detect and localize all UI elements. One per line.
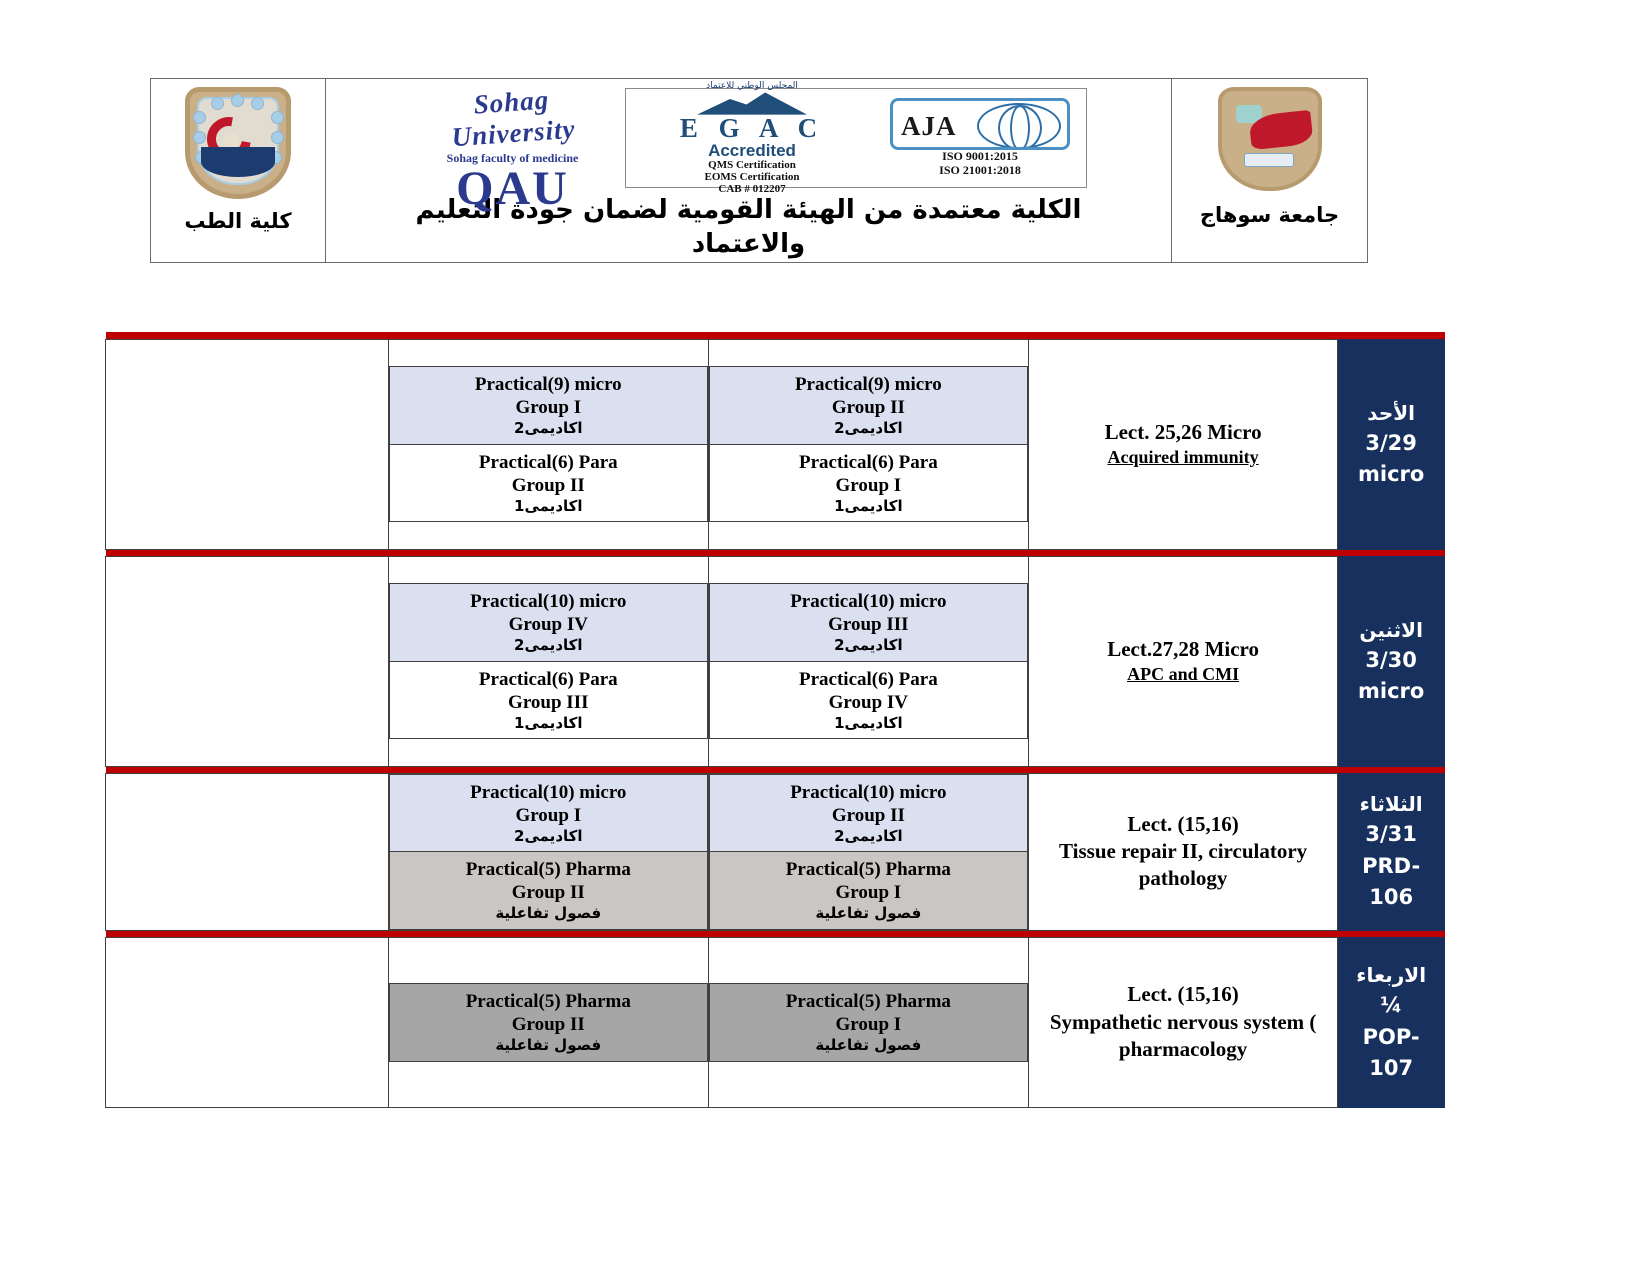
practical-title: Practical(6) Para	[394, 668, 703, 691]
practical-cell[interactable]: Practical(10) micro Group I اكاديمى2	[389, 774, 707, 852]
practical-sub-row: Practical(5) Pharma Group II فصول تفاعلي…	[389, 983, 707, 1061]
lecture-title: Lect. (15,16)	[1035, 981, 1331, 1008]
practical-cell[interactable]: Practical(5) Pharma Group I فصول تفاعلية	[709, 852, 1027, 930]
aja-iso21001-label: ISO 21001:2018	[880, 164, 1080, 178]
practical-cell[interactable]: Practical(10) micro Group IV اكاديمى2	[389, 583, 707, 661]
empty-time-cell[interactable]	[106, 937, 389, 1107]
practical-title: Practical(10) micro	[394, 781, 703, 804]
practical-room: اكاديمى1	[394, 497, 703, 515]
sohag-university-qau-logo-icon: Sohag University Sohag faculty of medici…	[410, 85, 615, 190]
practical-sub-row: Practical(6) Para Group II اكاديمى1	[389, 444, 707, 522]
red-divider-segment	[388, 332, 708, 339]
practical-room: اكاديمى2	[394, 419, 703, 437]
practical-room: اكاديمى2	[394, 636, 703, 654]
red-divider-segment	[708, 332, 1028, 339]
egac-eoms-label: EOMS Certification	[632, 171, 872, 183]
practical-room: اكاديمى1	[394, 714, 703, 732]
practical-sub-row: Practical(6) Para Group III اكاديمى1	[389, 661, 707, 739]
practical-group: Group I	[714, 1013, 1023, 1036]
lecture-block: Lect. (15,16) Tissue repair II, circulat…	[1035, 811, 1331, 893]
practical-room: فصول تفاعلية	[714, 904, 1023, 922]
practical-block: Practical(9) micro Group I اكاديمى2	[394, 373, 703, 438]
lecture-cell[interactable]: Lect. 25,26 Micro Acquired immunity	[1028, 339, 1337, 549]
lecture-subtitle: Acquired immunity	[1035, 446, 1331, 469]
practical-title: Practical(10) micro	[714, 781, 1023, 804]
lecture-subtitle: APC and CMI	[1035, 663, 1331, 686]
red-divider-row	[106, 766, 1445, 773]
accreditation-line-2: والاعتماد	[349, 228, 1149, 262]
day-cell[interactable]: الأحد 3/29 micro	[1338, 339, 1445, 549]
practical-cell[interactable]: Practical(5) Pharma Group II فصول تفاعلي…	[389, 852, 707, 930]
practical-cell[interactable]: Practical(10) micro Group III اكاديمى2	[709, 583, 1027, 661]
red-divider-segment	[1028, 549, 1337, 556]
practical-cell[interactable]: Practical(5) Pharma Group I فصول تفاعلية	[709, 983, 1027, 1061]
practical-room: فصول تفاعلية	[714, 1036, 1023, 1054]
lecture-block: Lect. (15,16) Sympathetic nervous system…	[1035, 981, 1331, 1063]
red-divider-segment	[106, 332, 389, 339]
practical-cell[interactable]: Practical(5) Pharma Group II فصول تفاعلي…	[389, 983, 707, 1061]
red-divider-segment	[1028, 332, 1337, 339]
practical-column-a: Practical(10) micro Group IV اكاديمى2 Pr…	[388, 556, 708, 766]
red-divider-segment	[1338, 766, 1445, 773]
header-logos-row: Sohag University Sohag faculty of medici…	[326, 83, 1171, 192]
practical-group: Group IV	[394, 613, 703, 636]
egac-accredited-label: Accredited	[632, 142, 872, 159]
day-code-label: PRD-106	[1344, 851, 1438, 914]
practical-group: Group II	[394, 1013, 703, 1036]
lecture-title: Lect. 25,26 Micro	[1035, 419, 1331, 446]
practical-cell[interactable]: Practical(9) micro Group II اكاديمى2	[709, 366, 1027, 444]
lecture-subtitle: Sympathetic nervous system ( pharmacolog…	[1035, 1009, 1331, 1064]
day-name-label: الأحد	[1344, 398, 1438, 428]
practical-column-b: Practical(5) Pharma Group I فصول تفاعلية	[708, 937, 1028, 1107]
practical-group: Group III	[714, 613, 1023, 636]
globe-icon	[977, 103, 1061, 149]
practical-group: Group II	[394, 474, 703, 497]
practical-title: Practical(5) Pharma	[394, 990, 703, 1013]
schedule-row: Practical(9) micro Group I اكاديمى2 Prac…	[106, 339, 1445, 549]
practical-room: فصول تفاعلية	[394, 1036, 703, 1054]
practical-block: Practical(6) Para Group II اكاديمى1	[394, 451, 703, 516]
practical-block: Practical(5) Pharma Group II فصول تفاعلي…	[394, 858, 703, 923]
practical-cell[interactable]: Practical(9) micro Group I اكاديمى2	[389, 366, 707, 444]
empty-time-cell[interactable]	[106, 556, 389, 766]
red-divider-segment	[388, 549, 708, 556]
faculty-caption-label: كلية الطب	[184, 209, 291, 233]
red-divider-row	[106, 332, 1445, 339]
red-divider-segment	[708, 766, 1028, 773]
aja-mark-label: AJA	[901, 111, 957, 142]
day-date-label: 3/31	[1344, 819, 1438, 851]
practical-group: Group I	[714, 474, 1023, 497]
practical-title: Practical(10) micro	[714, 590, 1023, 613]
practical-title: Practical(6) Para	[394, 451, 703, 474]
practical-cell[interactable]: Practical(6) Para Group III اكاديمى1	[389, 661, 707, 739]
practical-column-b: Practical(10) micro Group III اكاديمى2 P…	[708, 556, 1028, 766]
day-name-label: الاربعاء	[1344, 960, 1438, 990]
practical-title: Practical(9) micro	[714, 373, 1023, 396]
sohag-university-crest-icon	[1210, 85, 1330, 197]
practical-sub-row: Practical(10) micro Group III اكاديمى2	[709, 583, 1027, 661]
practical-column-a: Practical(10) micro Group I اكاديمى2 Pra…	[388, 773, 708, 930]
practical-group: Group III	[394, 691, 703, 714]
practical-block: Practical(6) Para Group III اكاديمى1	[394, 668, 703, 733]
day-date-label: 3/30	[1344, 645, 1438, 677]
practical-title: Practical(5) Pharma	[714, 858, 1023, 881]
aja-iso9001-label: ISO 9001:2015	[880, 150, 1080, 164]
aja-iso-certification-badge-icon: AJA ISO 9001:2015 ISO 21001:2018	[880, 98, 1080, 178]
practical-sub-row: Practical(5) Pharma Group I فصول تفاعلية	[709, 983, 1027, 1061]
certification-badges-box: المجلس الوطني للاعتماد E G A C Accredite…	[625, 88, 1087, 188]
practical-title: Practical(6) Para	[714, 668, 1023, 691]
red-divider-segment	[1028, 766, 1337, 773]
red-divider-segment	[106, 766, 389, 773]
practical-room: اكاديمى1	[714, 714, 1023, 732]
practical-block: Practical(10) micro Group IV اكاديمى2	[394, 590, 703, 655]
lecture-cell[interactable]: Lect. (15,16) Sympathetic nervous system…	[1028, 937, 1337, 1107]
practical-sub-row: Practical(9) micro Group I اكاديمى2	[389, 366, 707, 444]
practical-sub-row: Practical(10) micro Group IV اكاديمى2	[389, 583, 707, 661]
practical-sub-row: Practical(10) micro Group I اكاديمى2	[389, 774, 707, 852]
egac-cab-label: CAB # 012207	[632, 183, 872, 195]
egac-accredited-badge-icon: المجلس الوطني للاعتماد E G A C Accredite…	[632, 81, 872, 195]
practical-column-b: Practical(10) micro Group II اكاديمى2 Pr…	[708, 773, 1028, 930]
red-divider-row	[106, 930, 1445, 937]
red-divider-segment	[1338, 930, 1445, 937]
red-divider-segment	[708, 549, 1028, 556]
red-divider-segment	[106, 930, 389, 937]
red-divider-segment	[1338, 332, 1445, 339]
schedule-row: Practical(10) micro Group IV اكاديمى2 Pr…	[106, 556, 1445, 766]
practical-sub-row: Practical(10) micro Group II اكاديمى2	[709, 774, 1027, 852]
practical-block: Practical(6) Para Group I اكاديمى1	[714, 451, 1023, 516]
practical-sub-row: Practical(5) Pharma Group II فصول تفاعلي…	[389, 852, 707, 930]
practical-sub-row: Practical(5) Pharma Group I فصول تفاعلية	[709, 852, 1027, 930]
lecture-block: Lect.27,28 Micro APC and CMI	[1035, 636, 1331, 687]
header-right-logo-cell: جامعة سوهاج	[1171, 79, 1367, 262]
practical-column-a: Practical(9) micro Group I اكاديمى2 Prac…	[388, 339, 708, 549]
day-date-label: ¼	[1344, 990, 1438, 1022]
practical-room: اكاديمى2	[714, 827, 1023, 845]
day-cell[interactable]: الثلاثاء 3/31 PRD-106	[1338, 773, 1445, 930]
practical-sub-row: Practical(6) Para Group I اكاديمى1	[709, 444, 1027, 522]
egac-qms-label: QMS Certification	[632, 159, 872, 171]
practical-group: Group II	[714, 804, 1023, 827]
practical-group: Group I	[394, 396, 703, 419]
lecture-block: Lect. 25,26 Micro Acquired immunity	[1035, 419, 1331, 470]
practical-cell[interactable]: Practical(6) Para Group II اكاديمى1	[389, 444, 707, 522]
day-code-label: POP-107	[1344, 1022, 1438, 1085]
egac-mountain-icon	[697, 91, 807, 115]
red-divider-segment	[708, 930, 1028, 937]
empty-time-cell[interactable]	[106, 773, 389, 930]
practical-group: Group II	[714, 396, 1023, 419]
header-center-cell: Sohag University Sohag faculty of medici…	[326, 79, 1171, 262]
practical-title: Practical(5) Pharma	[714, 990, 1023, 1013]
header-left-logo-cell: كلية الطب	[151, 79, 326, 262]
practical-title: Practical(10) micro	[394, 590, 703, 613]
qau-arc-label: Sohag University	[408, 80, 617, 156]
practical-block: Practical(9) micro Group II اكاديمى2	[714, 373, 1023, 438]
egac-letters-label: E G A C	[632, 115, 872, 142]
practical-room: اكاديمى2	[714, 419, 1023, 437]
schedule-row: Practical(5) Pharma Group II فصول تفاعلي…	[106, 937, 1445, 1107]
practical-block: Practical(5) Pharma Group I فصول تفاعلية	[714, 858, 1023, 923]
practical-room: اكاديمى2	[714, 636, 1023, 654]
red-divider-segment	[106, 549, 389, 556]
practical-room: فصول تفاعلية	[394, 904, 703, 922]
faculty-of-medicine-crest-icon	[179, 85, 297, 203]
practical-title: Practical(6) Para	[714, 451, 1023, 474]
empty-time-cell[interactable]	[106, 339, 389, 549]
practical-cell[interactable]: Practical(6) Para Group I اكاديمى1	[709, 444, 1027, 522]
red-divider-segment	[388, 930, 708, 937]
practical-title: Practical(5) Pharma	[394, 858, 703, 881]
lecture-title: Lect. (15,16)	[1035, 811, 1331, 838]
practical-block: Practical(5) Pharma Group I فصول تفاعلية	[714, 990, 1023, 1055]
practical-sub-row: Practical(9) micro Group II اكاديمى2	[709, 366, 1027, 444]
practical-column-b: Practical(9) micro Group II اكاديمى2 Pra…	[708, 339, 1028, 549]
practical-column-a: Practical(5) Pharma Group II فصول تفاعلي…	[388, 937, 708, 1107]
page-root: كلية الطب Sohag University Sohag faculty…	[0, 0, 1650, 1275]
egac-arabic-label: المجلس الوطني للاعتماد	[632, 81, 872, 91]
day-cell[interactable]: الاثنين 3/30 micro	[1338, 556, 1445, 766]
practical-room: اكاديمى2	[394, 827, 703, 845]
practical-block: Practical(6) Para Group IV اكاديمى1	[714, 668, 1023, 733]
university-caption-label: جامعة سوهاج	[1200, 203, 1339, 227]
red-divider-segment	[388, 766, 708, 773]
document-header: كلية الطب Sohag University Sohag faculty…	[150, 78, 1368, 263]
practical-block: Practical(10) micro Group I اكاديمى2	[394, 781, 703, 846]
red-divider-segment	[1028, 930, 1337, 937]
practical-group: Group IV	[714, 691, 1023, 714]
lecture-title: Lect.27,28 Micro	[1035, 636, 1331, 663]
practical-group: Group II	[394, 881, 703, 904]
practical-room: اكاديمى1	[714, 497, 1023, 515]
red-divider-segment	[1338, 549, 1445, 556]
red-divider-row	[106, 549, 1445, 556]
practical-group: Group I	[394, 804, 703, 827]
practical-block: Practical(10) micro Group II اكاديمى2	[714, 781, 1023, 846]
day-date-label: 3/29	[1344, 428, 1438, 460]
practical-block: Practical(10) micro Group III اكاديمى2	[714, 590, 1023, 655]
day-code-label: micro	[1344, 459, 1438, 491]
weekly-schedule-table: Practical(9) micro Group I اكاديمى2 Prac…	[105, 332, 1445, 1108]
day-code-label: micro	[1344, 676, 1438, 708]
lecture-subtitle: Tissue repair II, circulatory pathology	[1035, 838, 1331, 893]
schedule-row: Practical(10) micro Group I اكاديمى2 Pra…	[106, 773, 1445, 930]
practical-cell[interactable]: Practical(10) micro Group II اكاديمى2	[709, 774, 1027, 852]
practical-sub-row: Practical(6) Para Group IV اكاديمى1	[709, 661, 1027, 739]
lecture-cell[interactable]: Lect. (15,16) Tissue repair II, circulat…	[1028, 773, 1337, 930]
day-cell[interactable]: الاربعاء ¼ POP-107	[1338, 937, 1445, 1107]
day-name-label: الثلاثاء	[1344, 789, 1438, 819]
qau-big-label: QAU	[410, 166, 615, 212]
practical-block: Practical(5) Pharma Group II فصول تفاعلي…	[394, 990, 703, 1055]
practical-group: Group I	[714, 881, 1023, 904]
day-name-label: الاثنين	[1344, 615, 1438, 645]
practical-cell[interactable]: Practical(6) Para Group IV اكاديمى1	[709, 661, 1027, 739]
lecture-cell[interactable]: Lect.27,28 Micro APC and CMI	[1028, 556, 1337, 766]
practical-title: Practical(9) micro	[394, 373, 703, 396]
